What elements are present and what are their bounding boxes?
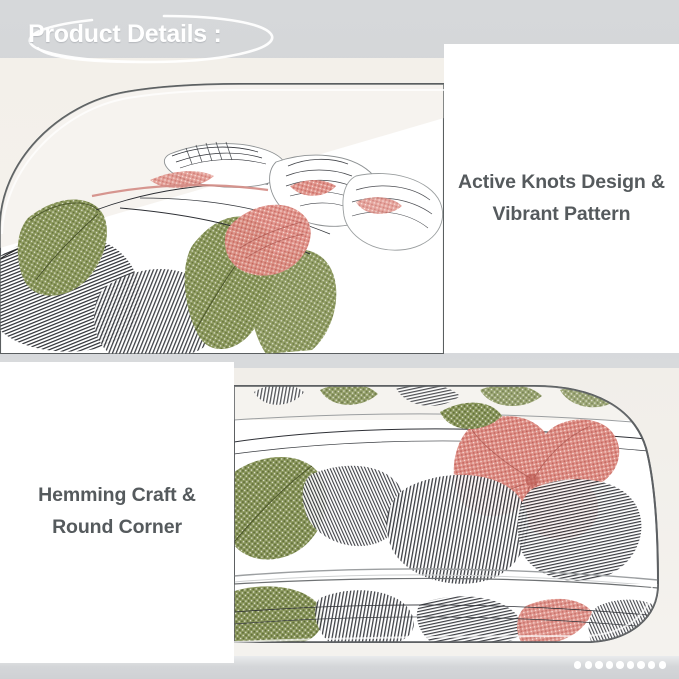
pagination-dot[interactable] xyxy=(595,661,602,668)
pagination-dot[interactable] xyxy=(606,661,613,668)
caption-card-hemming-craft: Hemming Craft & Round Corner xyxy=(0,362,234,662)
pagination-dot[interactable] xyxy=(616,661,623,668)
caption-line-2: Round Corner xyxy=(52,516,182,538)
caption-line-2: Vibrant Pattern xyxy=(493,203,631,225)
product-photo-active-knots xyxy=(0,58,444,354)
pagination-dots-icon[interactable] xyxy=(574,658,674,672)
pagination-dot[interactable] xyxy=(574,661,581,668)
caption-text-hemming-craft: Hemming Craft & Round Corner xyxy=(26,480,208,543)
page-title-group: Product Details : xyxy=(14,12,314,62)
caption-text-active-knots: Active Knots Design & Vibrant Pattern xyxy=(446,167,677,230)
caption-card-active-knots: Active Knots Design & Vibrant Pattern xyxy=(444,44,679,353)
hem-detail-illustration xyxy=(234,368,679,656)
pagination-dot[interactable] xyxy=(627,661,634,668)
page-title: Product Details : xyxy=(28,20,222,49)
pagination-dot[interactable] xyxy=(648,661,655,668)
pagination-dot[interactable] xyxy=(659,661,666,668)
product-details-stage: Active Knots Design & Vibrant Pattern He… xyxy=(0,0,679,679)
knot-detail-illustration xyxy=(0,58,444,354)
caption-line-1: Active Knots Design & xyxy=(458,171,665,193)
pagination-dot[interactable] xyxy=(637,661,644,668)
pagination-dot[interactable] xyxy=(585,661,592,668)
product-photo-hemming-craft xyxy=(234,368,679,656)
caption-line-1: Hemming Craft & xyxy=(38,484,196,506)
